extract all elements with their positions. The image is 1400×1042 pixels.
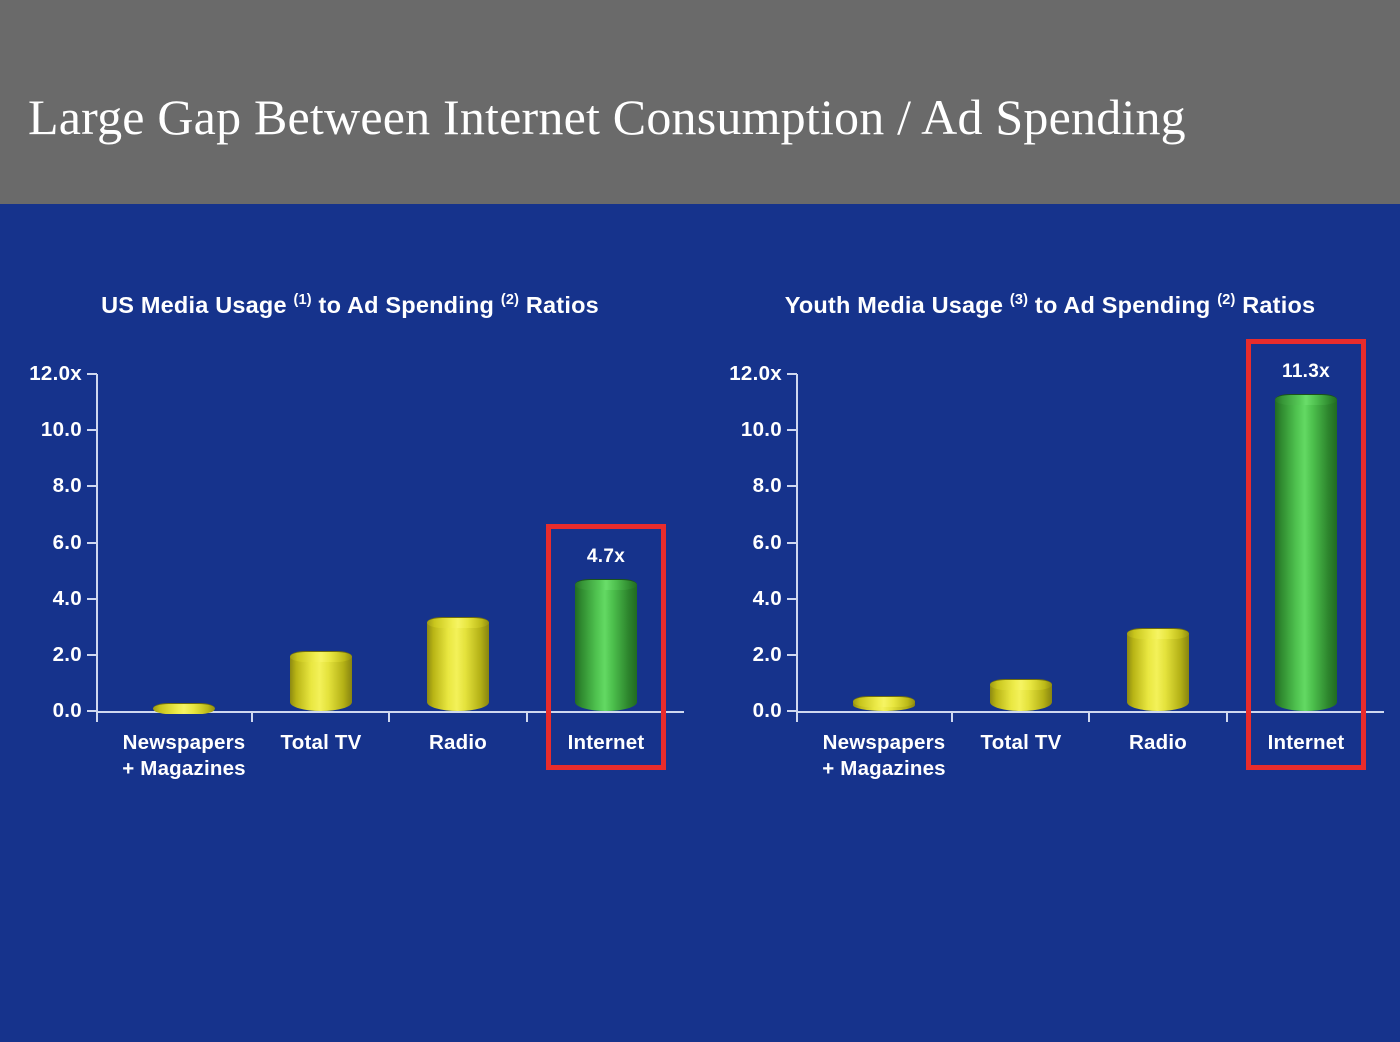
- category-label-line: + Magazines: [822, 756, 946, 782]
- y-axis-tick: [787, 429, 797, 431]
- chart-title-part-1: US Media Usage: [101, 292, 293, 318]
- y-axis-tick-label: 0.0: [753, 699, 782, 723]
- bar-value-label: 4.7x: [587, 546, 625, 568]
- chart-title-youth-media-usage: Youth Media Usage (3) to Ad Spending (2)…: [740, 288, 1360, 323]
- x-axis-tick: [388, 713, 390, 722]
- chart-title-part-2: to Ad Spending: [1028, 292, 1217, 318]
- chart-title-part-3: Ratios: [519, 292, 599, 318]
- x-axis-tick: [796, 713, 798, 722]
- x-axis-category-label: Total TV: [281, 730, 362, 756]
- category-label-line: + Magazines: [122, 756, 246, 782]
- x-axis-tick: [251, 713, 253, 722]
- y-axis-tick: [87, 542, 97, 544]
- chart-title-part-2: to Ad Spending: [312, 292, 501, 318]
- x-axis-tick: [96, 713, 98, 722]
- y-axis-tick-label: 6.0: [53, 531, 82, 555]
- bar-total-tv: [990, 679, 1052, 711]
- category-label-line: Internet: [1268, 730, 1345, 756]
- x-axis-category-label: Newspapers+ Magazines: [122, 730, 246, 782]
- y-axis-tick-label: 12.0x: [729, 362, 782, 386]
- y-axis-tick: [87, 598, 97, 600]
- chart-title-us-media-usage: US Media Usage (1) to Ad Spending (2) Ra…: [40, 288, 660, 323]
- y-axis-tick: [87, 654, 97, 656]
- y-axis-tick-label: 8.0: [753, 474, 782, 498]
- slide: Large Gap Between Internet Consumption /…: [0, 0, 1400, 1042]
- x-axis-category-label: Internet: [568, 730, 645, 756]
- x-axis-category-label: Radio: [1129, 730, 1187, 756]
- x-axis-category-label: Radio: [429, 730, 487, 756]
- y-axis-tick-label: 12.0x: [29, 362, 82, 386]
- bar-newspapers-magazines: [853, 696, 915, 711]
- category-label-line: Total TV: [981, 730, 1062, 756]
- x-axis-category-label: Newspapers+ Magazines: [822, 730, 946, 782]
- y-axis-tick: [87, 710, 97, 712]
- x-axis-tick: [951, 713, 953, 722]
- y-axis-tick-label: 10.0: [741, 418, 782, 442]
- x-axis-category-label: Total TV: [981, 730, 1062, 756]
- y-axis-tick: [787, 373, 797, 375]
- category-label-line: Newspapers: [822, 730, 946, 756]
- x-axis-category-label: Internet: [1268, 730, 1345, 756]
- y-axis-tick: [787, 542, 797, 544]
- footnote-ref-2: (2): [501, 292, 519, 308]
- y-axis-tick: [787, 598, 797, 600]
- x-axis-tick: [1226, 713, 1228, 722]
- plot-area-us-media-usage: 12.0x10.08.06.04.02.00.0Newspapers+ Maga…: [96, 374, 684, 717]
- y-axis-tick-label: 2.0: [53, 643, 82, 667]
- y-axis-tick: [787, 654, 797, 656]
- y-axis-tick: [787, 485, 797, 487]
- footnote-ref-2: (2): [1217, 292, 1235, 308]
- x-axis-tick: [1088, 713, 1090, 722]
- plot-area-youth-media-usage: 12.0x10.08.06.04.02.00.0Newspapers+ Maga…: [796, 374, 1384, 717]
- bar-radio: [1127, 628, 1189, 711]
- category-label-line: Total TV: [281, 730, 362, 756]
- slide-footer: MorganStanley 43 Yourseeker: [0, 944, 1400, 1042]
- y-axis-tick-label: 6.0: [753, 531, 782, 555]
- category-label-line: Radio: [429, 730, 487, 756]
- y-axis-tick: [87, 485, 97, 487]
- chart-panel-us-media-usage: US Media Usage (1) to Ad Spending (2) Ra…: [0, 204, 700, 804]
- bar-newspapers-magazines: [153, 703, 215, 711]
- y-axis-tick-label: 0.0: [53, 699, 82, 723]
- y-axis-tick: [87, 429, 97, 431]
- chart-title-part-3: Ratios: [1236, 292, 1316, 318]
- slide-body: US Media Usage (1) to Ad Spending (2) Ra…: [0, 204, 1400, 943]
- y-axis-tick-label: 2.0: [753, 643, 782, 667]
- x-axis-line: [796, 711, 1384, 713]
- x-axis-tick: [526, 713, 528, 722]
- y-axis-tick-label: 10.0: [41, 418, 82, 442]
- y-axis-tick-label: 8.0: [53, 474, 82, 498]
- category-label-line: Newspapers: [122, 730, 246, 756]
- x-axis-tick: [664, 713, 666, 722]
- category-label-line: Internet: [568, 730, 645, 756]
- y-axis-tick-label: 4.0: [53, 587, 82, 611]
- chart-title-part-1: Youth Media Usage: [785, 292, 1010, 318]
- plot-inner: 12.0x10.08.06.04.02.00.0Newspapers+ Maga…: [796, 374, 1384, 711]
- bar-radio: [427, 617, 489, 711]
- category-label-line: Radio: [1129, 730, 1187, 756]
- bar-value-label: 11.3x: [1282, 361, 1330, 383]
- x-axis-tick: [1364, 713, 1366, 722]
- y-axis-tick: [87, 373, 97, 375]
- chart-panel-youth-media-usage: Youth Media Usage (3) to Ad Spending (2)…: [700, 204, 1400, 804]
- y-axis-tick: [787, 710, 797, 712]
- footnote-ref-3: (3): [1010, 292, 1028, 308]
- y-axis-line: [796, 374, 798, 713]
- y-axis-line: [96, 374, 98, 713]
- plot-inner: 12.0x10.08.06.04.02.00.0Newspapers+ Maga…: [96, 374, 684, 711]
- footnote-ref-1: (1): [293, 292, 311, 308]
- bar-total-tv: [290, 651, 352, 711]
- bar-internet: [575, 579, 637, 711]
- page-title: Large Gap Between Internet Consumption /…: [28, 88, 1378, 146]
- bar-internet: [1275, 394, 1337, 711]
- y-axis-tick-label: 4.0: [753, 587, 782, 611]
